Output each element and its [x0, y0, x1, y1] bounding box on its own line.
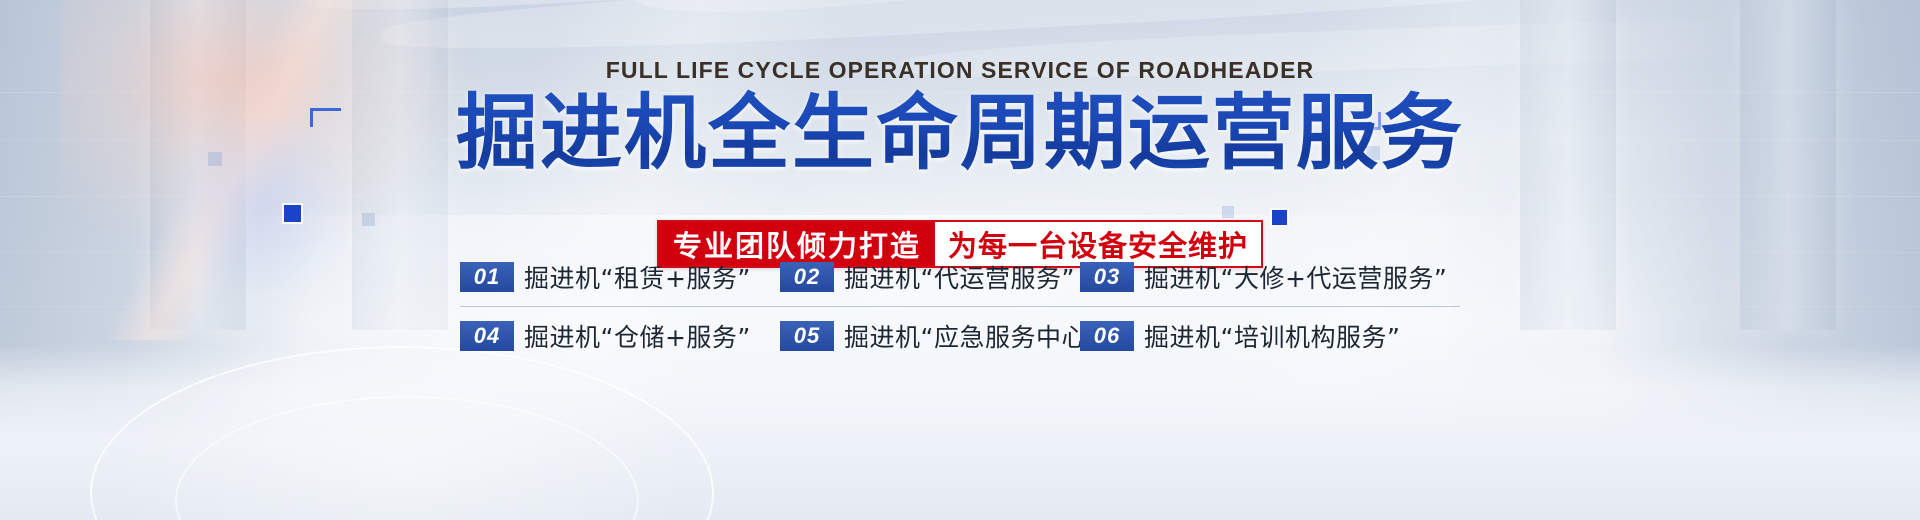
service-item-05[interactable]: 05 掘进机“应急服务中心” — [780, 318, 1080, 354]
service-label: 掘进机“租赁+服务” — [524, 259, 751, 295]
service-item-04[interactable]: 04 掘进机“仓储+服务” — [460, 318, 780, 354]
service-number-badge: 04 — [460, 321, 514, 351]
service-number-badge: 03 — [1080, 262, 1134, 292]
service-list: 01 掘进机“租赁+服务” 02 掘进机“代运营服务” 03 掘进机“大修+代运… — [460, 248, 1460, 365]
service-label: 掘进机“培训机构服务” — [1144, 318, 1400, 354]
service-item-02[interactable]: 02 掘进机“代运营服务” — [780, 259, 1080, 295]
service-label: 掘进机“大修+代运营服务” — [1144, 259, 1447, 295]
service-item-01[interactable]: 01 掘进机“租赁+服务” — [460, 259, 780, 295]
banner-title: 掘进机全生命周期运营服务 — [0, 88, 1920, 180]
service-label: 掘进机“仓储+服务” — [524, 318, 751, 354]
service-row-top: 01 掘进机“租赁+服务” 02 掘进机“代运营服务” 03 掘进机“大修+代运… — [460, 248, 1460, 307]
service-number-badge: 06 — [1080, 321, 1134, 351]
service-item-06[interactable]: 06 掘进机“培训机构服务” — [1080, 318, 1400, 354]
service-item-03[interactable]: 03 掘进机“大修+代运营服务” — [1080, 259, 1447, 295]
service-label: 掘进机“应急服务中心” — [844, 318, 1100, 354]
service-number-badge: 05 — [780, 321, 834, 351]
service-label: 掘进机“代运营服务” — [844, 259, 1075, 295]
banner-content: FULL LIFE CYCLE OPERATION SERVICE OF ROA… — [0, 0, 1920, 520]
banner-subtitle-english: FULL LIFE CYCLE OPERATION SERVICE OF ROA… — [0, 57, 1920, 84]
service-row-bottom: 04 掘进机“仓储+服务” 05 掘进机“应急服务中心” 06 掘进机“培训机构… — [460, 307, 1460, 365]
service-number-badge: 01 — [460, 262, 514, 292]
banner-root: FULL LIFE CYCLE OPERATION SERVICE OF ROA… — [0, 0, 1920, 520]
service-number-badge: 02 — [780, 262, 834, 292]
